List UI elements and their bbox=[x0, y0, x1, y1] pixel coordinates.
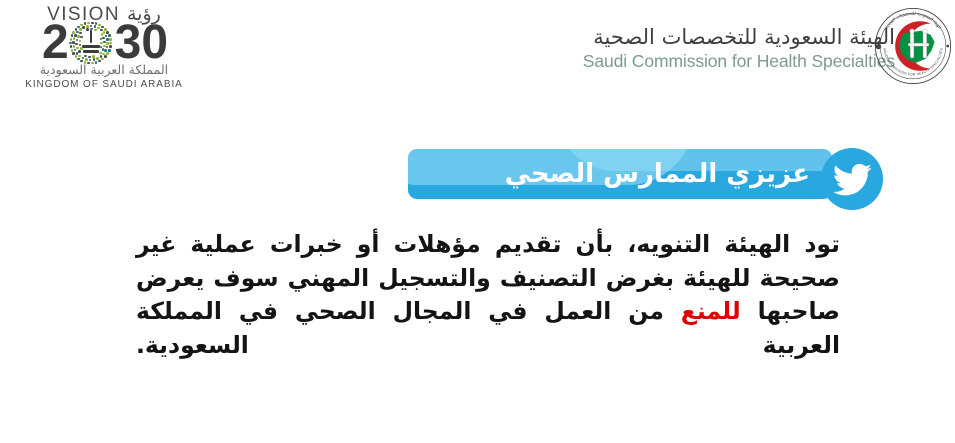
banner-bar: عزيزي الممارس الصحي bbox=[408, 149, 832, 199]
vision-digit-0: 0 bbox=[141, 21, 166, 65]
vision-2030-logo: VISION رؤية 2 3 0 المملكة العربية السعود… bbox=[14, 2, 194, 94]
twitter-bird-icon[interactable] bbox=[818, 145, 886, 213]
vision-digit-2: 2 bbox=[42, 21, 67, 65]
notice-text-emphasis: للمنع bbox=[681, 297, 741, 325]
palm-trunk bbox=[90, 30, 92, 43]
greeting-banner: عزيزي الممارس الصحي bbox=[408, 145, 888, 213]
sword-lower bbox=[83, 50, 99, 53]
sword-upper bbox=[82, 45, 100, 48]
schs-title-en: Saudi Commission for Health Specialties bbox=[583, 50, 895, 72]
schs-wordmark: الهيئة السعودية للتخصصات الصحية Saudi Co… bbox=[583, 24, 895, 72]
saudi-palm-and-swords-icon bbox=[82, 30, 100, 56]
vision-dotted-zero bbox=[69, 21, 113, 65]
schs-emblem-icon: الهيئة السعودية للتخصصات الصحية SAUDI CO… bbox=[873, 6, 953, 86]
schs-title-ar: الهيئة السعودية للتخصصات الصحية bbox=[593, 24, 895, 50]
schs-logo-lockup: الهيئة السعودية للتخصصات الصحية Saudi Co… bbox=[583, 10, 895, 86]
vision-subtitle-en: KINGDOM OF SAUDI ARABIA bbox=[14, 78, 194, 91]
vision-numerals: 2 3 0 bbox=[14, 20, 194, 66]
notice-paragraph: تود الهيئة التنويه، بأن تقديم مؤهلات أو … bbox=[136, 228, 840, 362]
vision-digit-3: 3 bbox=[115, 21, 140, 65]
vision-subtitle-ar: المملكة العربية السعودية bbox=[14, 62, 194, 77]
banner-title: عزيزي الممارس الصحي bbox=[505, 149, 810, 199]
vision-subtitle-block: المملكة العربية السعودية KINGDOM OF SAUD… bbox=[14, 62, 194, 91]
